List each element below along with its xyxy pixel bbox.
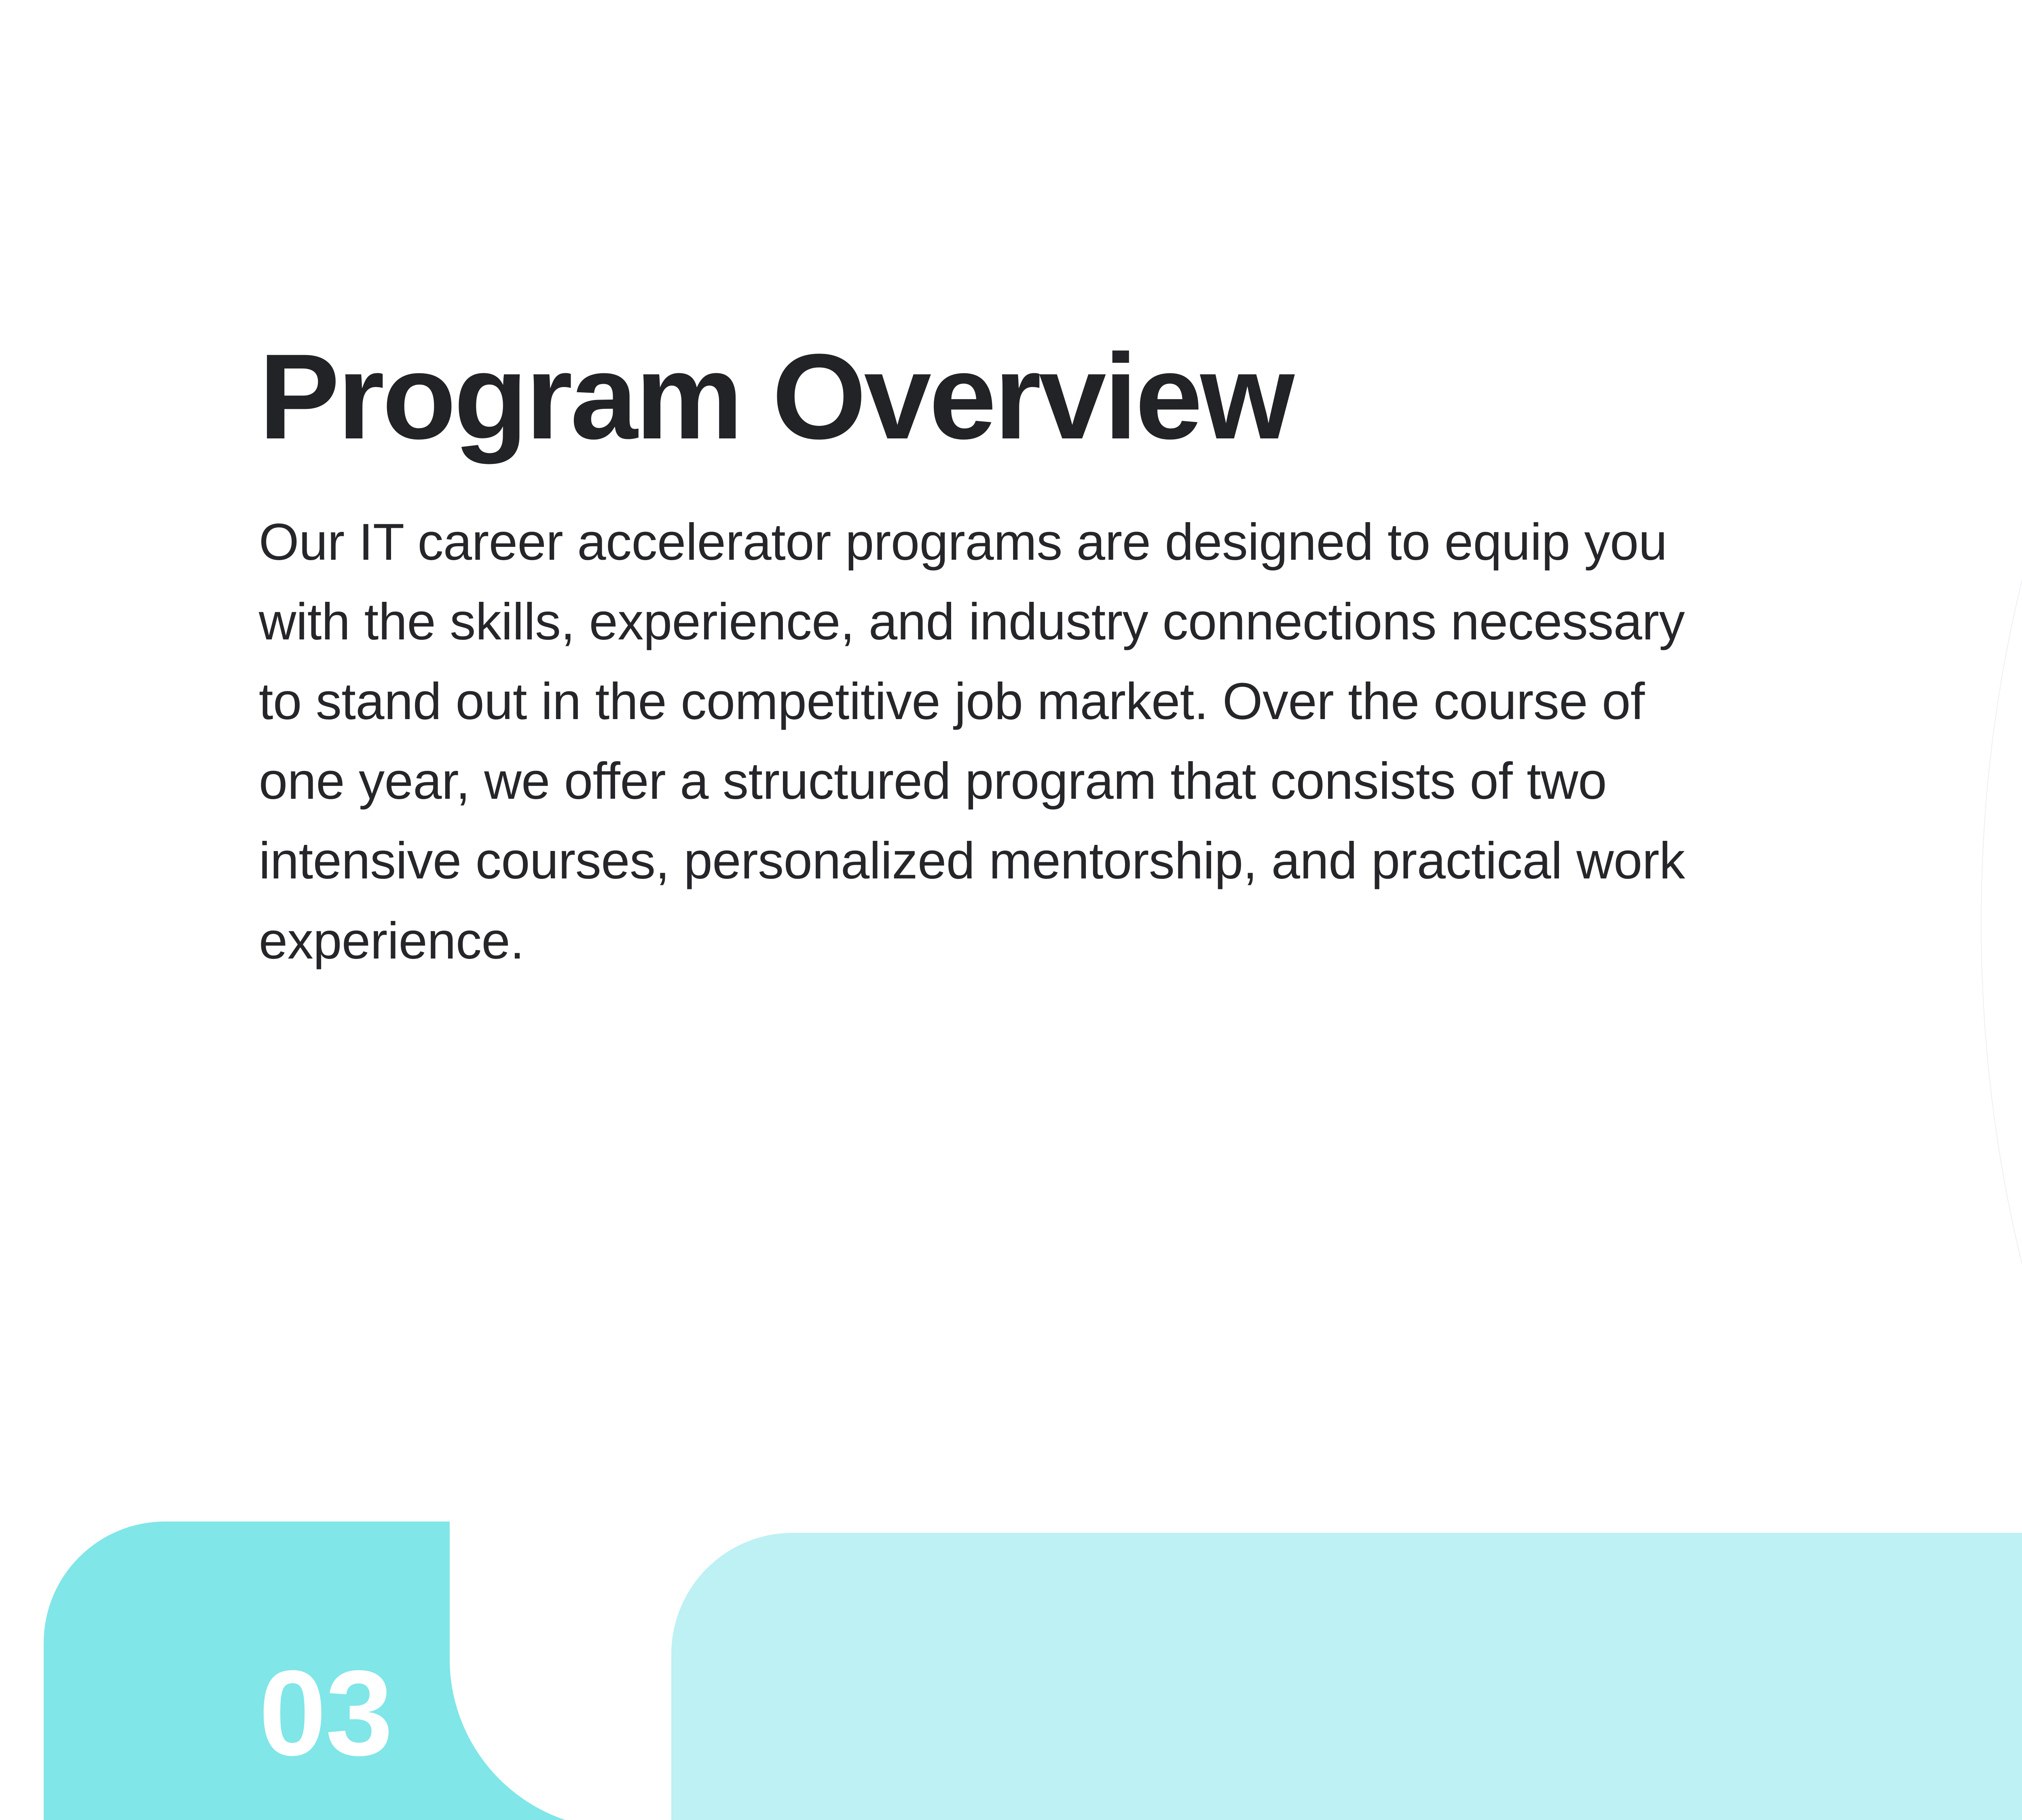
page-title: Program Overview — [259, 336, 1747, 457]
body-paragraph: Our IT career accelerator programs are d… — [259, 502, 1698, 981]
slide-root: <meta charset="utf-8" /> <link rel="icon… — [0, 0, 2022, 1820]
slide-number-label: 03 — [259, 1652, 392, 1773]
bottom-accent-bar-light — [671, 1533, 2022, 1820]
text-column: Program Overview Our IT career accelerat… — [259, 336, 1747, 981]
